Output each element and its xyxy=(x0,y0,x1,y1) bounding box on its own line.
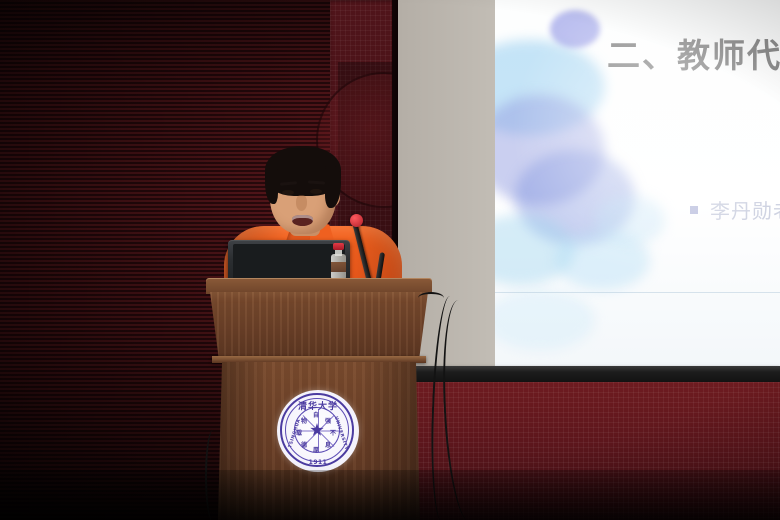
laptop-screen xyxy=(233,244,345,282)
speaker-nose xyxy=(296,195,307,211)
speaker-eye-left xyxy=(282,190,294,195)
emblem-inner-char: 强 xyxy=(325,416,331,425)
splash-blob xyxy=(595,195,665,245)
slide-title: 二、教师代表 xyxy=(607,38,780,74)
emblem-founding-year: 1911 xyxy=(309,459,328,466)
bottle-cap xyxy=(333,243,344,250)
splash-blob xyxy=(495,290,595,350)
slide-bullet-label: 李丹勋老 xyxy=(710,195,780,224)
podium-wood-grain xyxy=(210,292,428,358)
emblem-inner-char: 息 xyxy=(325,440,331,449)
bottle-label xyxy=(331,262,346,272)
speaker-mouth xyxy=(292,215,313,226)
floor-shadow xyxy=(0,470,780,520)
podium-divider-strip xyxy=(212,356,426,363)
splash-blob xyxy=(550,10,600,48)
cable-bend xyxy=(418,292,444,304)
microphone-windscreen-icon xyxy=(350,214,363,227)
projected-slide: 二、教师代表 李丹勋老 xyxy=(495,0,780,372)
emblem-inner-char: 德 xyxy=(301,440,307,449)
speaker-hair-side xyxy=(265,168,278,204)
emblem-chinese-name: 清华大学 xyxy=(298,399,338,412)
emblem-inner-char: 厚 xyxy=(313,445,319,454)
slide-divider-line xyxy=(495,292,780,293)
slide-bullet-item: 李丹勋老 xyxy=(690,195,780,224)
speaker-eye-right xyxy=(310,189,322,194)
podium-top-surface xyxy=(206,278,432,294)
tsinghua-university-emblem: 自 强 不 息 厚 德 载 物 清华大学 TSINGHUA UNIVERSITY… xyxy=(277,390,359,472)
square-bullet-icon xyxy=(690,206,698,214)
emblem-inner-char: 不 xyxy=(330,428,336,437)
photo-scene: 二、教师代表 李丹勋老 xyxy=(0,0,780,520)
